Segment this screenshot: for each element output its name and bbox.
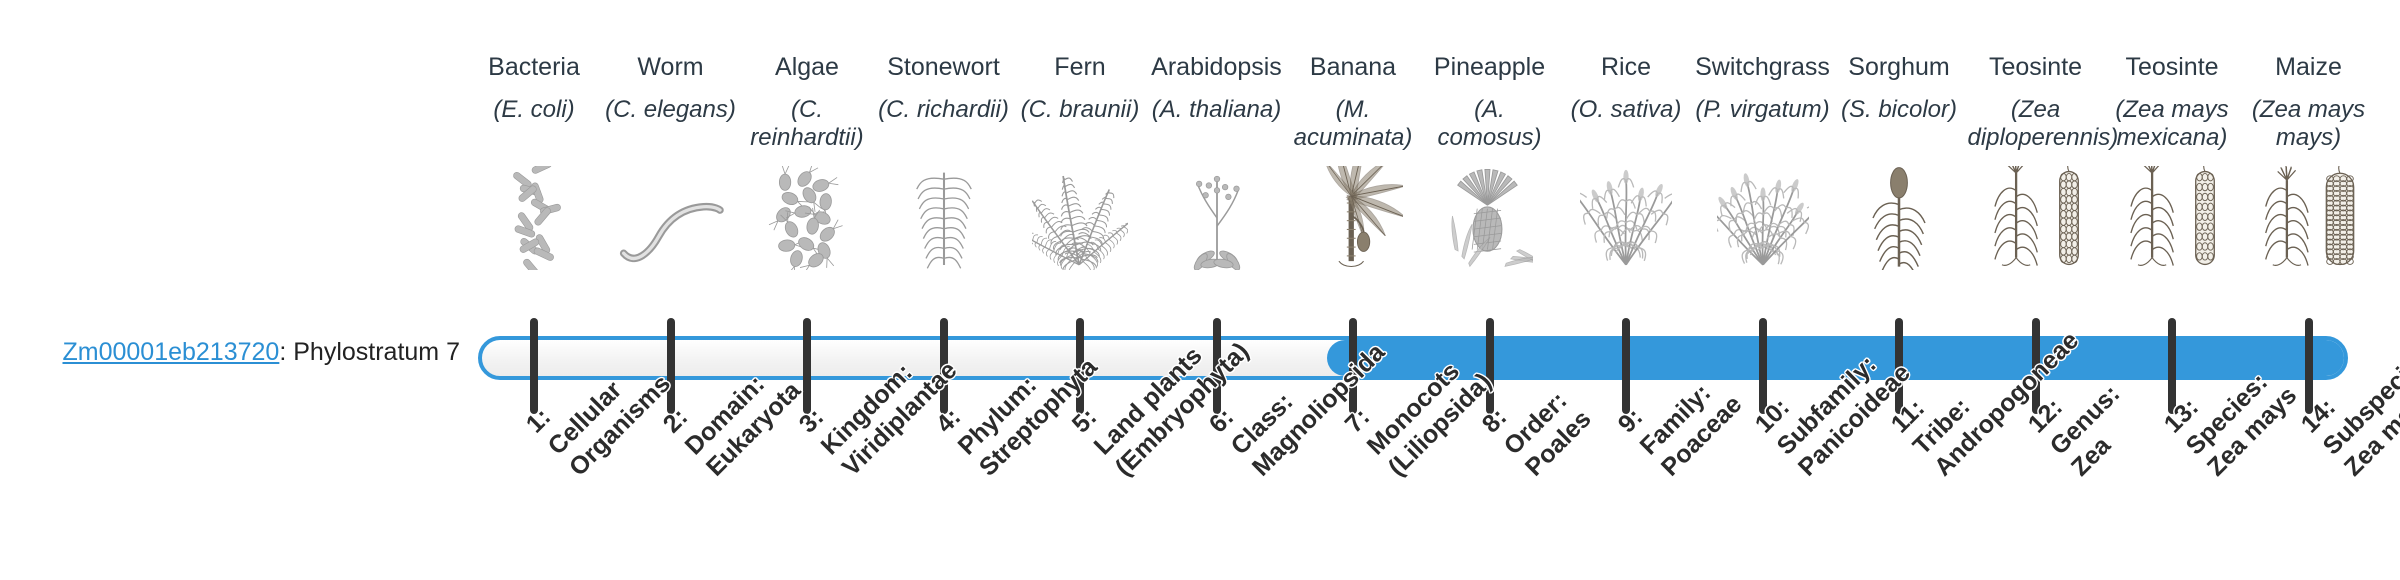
taxonomic-rank-labels: 1: Cellular Organisms2: Domain: Eukaryot… — [466, 418, 2366, 578]
arabidopsis-icon — [1149, 160, 1285, 270]
species-column: Maize(Zea mays mays) — [2241, 52, 2377, 153]
species-common-name: Arabidopsis — [1149, 52, 1285, 82]
species-scientific-name: (C. elegans) — [603, 96, 739, 124]
species-column: Rice(O. sativa) — [1558, 52, 1694, 124]
species-column: Switchgrass(P. virgatum) — [1695, 52, 1831, 124]
species-common-name: Teosinte — [2104, 52, 2240, 82]
species-common-name: Maize — [2241, 52, 2377, 82]
gene-label-separator: : — [279, 338, 293, 366]
fern-icon — [1012, 160, 1148, 270]
species-common-name: Stonewort — [876, 52, 1012, 82]
teosinte-diploperennis-icon — [1968, 160, 2104, 270]
switchgrass-icon — [1695, 160, 1831, 270]
species-scientific-name: (Zea mays mexicana) — [2104, 96, 2240, 153]
gene-phylostratum-label: Zm00001eb213720: Phylostratum 7 — [40, 338, 460, 367]
species-columns: Bacteria(E. coli)Worm(C. elegans) Algae(… — [466, 52, 2366, 314]
species-common-name: Switchgrass — [1695, 52, 1831, 82]
sorghum-icon — [1831, 160, 1967, 270]
species-scientific-name: (A. comosus) — [1422, 96, 1558, 153]
phylostratum-value: Phylostratum 7 — [293, 338, 460, 366]
species-scientific-name: (Zea mays mays) — [2241, 96, 2377, 153]
species-common-name: Bacteria — [466, 52, 602, 82]
bacteria-icon — [466, 160, 602, 270]
species-column: Worm(C. elegans) — [603, 52, 739, 124]
species-scientific-name: (C. richardii) — [876, 96, 1012, 124]
gene-id-link[interactable]: Zm00001eb213720 — [62, 338, 279, 366]
species-common-name: Banana — [1285, 52, 1421, 82]
species-scientific-name: (S. bicolor) — [1831, 96, 1967, 124]
species-scientific-name: (C. braunii) — [1012, 96, 1148, 124]
banana-icon — [1285, 160, 1421, 270]
teosinte-mexicana-icon — [2104, 160, 2240, 270]
species-column: Arabidopsis(A. thaliana) — [1149, 52, 1285, 124]
species-column: Teosinte(Zea diploperennis) — [1968, 52, 2104, 153]
species-common-name: Worm — [603, 52, 739, 82]
stonewort-icon — [876, 160, 1012, 270]
species-column: Sorghum(S. bicolor) — [1831, 52, 1967, 124]
species-column: Algae(C. reinhardtii) — [739, 52, 875, 153]
species-scientific-name: (C. reinhardtii) — [739, 96, 875, 153]
pineapple-icon — [1422, 160, 1558, 270]
species-scientific-name: (P. virgatum) — [1695, 96, 1831, 124]
species-common-name: Teosinte — [1968, 52, 2104, 82]
species-common-name: Rice — [1558, 52, 1694, 82]
species-common-name: Pineapple — [1422, 52, 1558, 82]
species-scientific-name: (O. sativa) — [1558, 96, 1694, 124]
species-column: Bacteria(E. coli) — [466, 52, 602, 124]
phylostratum-timeline-figure: Zm00001eb213720: Phylostratum 7 Bacteria… — [0, 0, 2400, 580]
species-scientific-name: (E. coli) — [466, 96, 602, 124]
species-column: Banana(M. acuminata) — [1285, 52, 1421, 153]
species-column: Fern(C. braunii) — [1012, 52, 1148, 124]
species-common-name: Sorghum — [1831, 52, 1967, 82]
species-column: Pineapple(A. comosus) — [1422, 52, 1558, 153]
worm-icon — [603, 160, 739, 270]
algae-icon — [739, 160, 875, 270]
maize-icon — [2241, 160, 2377, 270]
rice-icon — [1558, 160, 1694, 270]
species-common-name: Fern — [1012, 52, 1148, 82]
species-common-name: Algae — [739, 52, 875, 82]
species-column: Stonewort(C. richardii) — [876, 52, 1012, 124]
species-scientific-name: (Zea diploperennis) — [1968, 96, 2104, 153]
species-scientific-name: (A. thaliana) — [1149, 96, 1285, 124]
species-scientific-name: (M. acuminata) — [1285, 96, 1421, 153]
species-column: Teosinte(Zea mays mexicana) — [2104, 52, 2240, 153]
